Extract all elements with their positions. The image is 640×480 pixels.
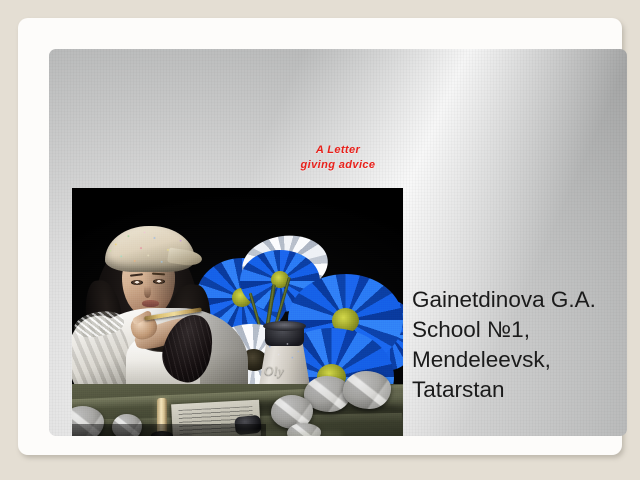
woman-eye-left <box>131 280 143 285</box>
author-city: Mendeleevsk, <box>412 345 627 375</box>
vase-label: Oly <box>264 363 308 379</box>
slide-frame: A Letter giving advice <box>18 18 622 455</box>
slide-title: A Letter giving advice <box>49 143 627 173</box>
crumpled-paper-ball <box>343 371 391 409</box>
author-school: School №1, <box>412 315 627 345</box>
author-affiliation-block: Gainetdinova G.A. School №1, Mendeleevsk… <box>412 285 627 405</box>
vase-rim <box>263 321 306 331</box>
woman-nose <box>144 286 151 298</box>
woman-eye-right <box>153 279 165 284</box>
letter-writer-photo: Oly <box>72 188 403 436</box>
woman-lips <box>142 300 159 307</box>
slide-title-line2: giving advice <box>49 158 627 173</box>
slide-title-line1: A Letter <box>49 143 627 158</box>
author-region: Tatarstan <box>412 375 627 405</box>
slide-surface: A Letter giving advice <box>49 49 627 436</box>
vase-glitter <box>260 340 309 362</box>
slide-viewer: A Letter giving advice <box>0 0 640 480</box>
author-name: Gainetdinova G.A. <box>412 285 627 315</box>
cloth-highlight <box>192 432 342 436</box>
